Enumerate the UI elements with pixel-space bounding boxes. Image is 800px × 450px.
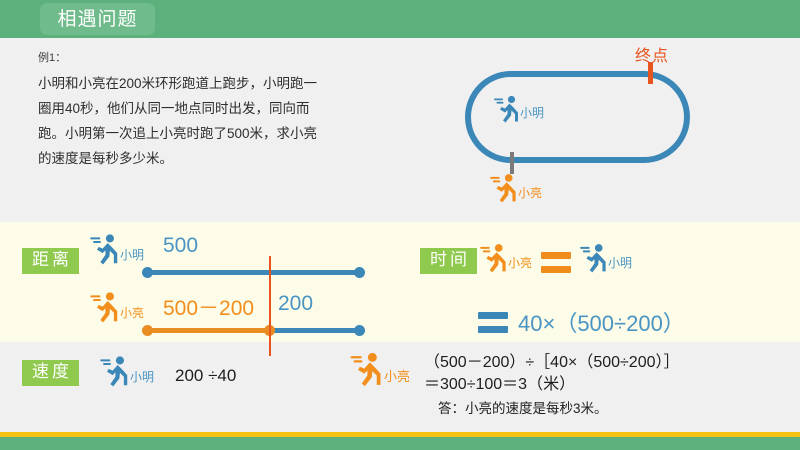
- problem-lead: 例1：: [38, 52, 418, 65]
- distance-segment-liang: [146, 328, 270, 333]
- runner-label: 小亮: [508, 257, 532, 274]
- page-title: 相遇问题: [57, 10, 137, 29]
- distance-runner-liang: 小亮: [88, 288, 144, 324]
- footer-green-bar: [0, 437, 800, 450]
- runner-icon: [348, 348, 388, 388]
- distance-value-200: 200: [278, 292, 313, 316]
- finish-tick-marker: [648, 62, 653, 84]
- problem-line-2: 圈用40秒，他们从同一地点同时出发，同向而: [38, 97, 418, 122]
- runner-label: 小亮: [384, 370, 410, 388]
- distance-value-500-minus-200: 500－200: [163, 292, 254, 322]
- answer-line-2: ＝300÷100＝3（米）: [424, 374, 794, 396]
- equals-sign-orange: [541, 252, 571, 274]
- distance-divider-line: [269, 256, 271, 356]
- segment-endpoint-dot: [142, 267, 153, 278]
- runner-icon: [88, 230, 124, 266]
- runner-icon: [488, 170, 522, 204]
- segment-endpoint-dot: [354, 267, 365, 278]
- section-badge-speed: 速度: [22, 360, 79, 386]
- track-runner-liang: 小亮: [488, 170, 542, 204]
- runner-label: 小明: [120, 249, 144, 266]
- distance-segment-lap: [268, 328, 360, 333]
- time-runner-ming: 小明: [578, 240, 632, 274]
- runner-icon: [98, 352, 134, 388]
- distance-value-500: 500: [163, 234, 198, 258]
- section-badge-time: 时间: [420, 248, 477, 274]
- problem-line-4: 的速度是每秒多少米。: [38, 147, 418, 172]
- runner-icon: [578, 240, 612, 274]
- runner-icon: [478, 240, 512, 274]
- segment-endpoint-dot: [142, 325, 153, 336]
- runner-label: 小亮: [120, 307, 144, 324]
- track-runner-ming: 小明: [492, 92, 544, 124]
- problem-line-1: 小明和小亮在200米环形跑道上跑步，小明跑一: [38, 72, 418, 97]
- title-bar: 相遇问题: [0, 0, 800, 38]
- runner-label: 小亮: [518, 187, 542, 204]
- answer-block: （500－200）÷［40×（500÷200）］ ＝300÷100＝3（米） 答…: [424, 352, 794, 420]
- problem-statement: 例1： 小明和小亮在200米环形跑道上跑步，小明跑一 圈用40秒，他们从同一地点…: [38, 52, 418, 172]
- segment-endpoint-dot: [354, 325, 365, 336]
- time-formula: 40×（500÷200）: [518, 306, 685, 338]
- slide-title-badge: 相遇问题: [40, 3, 155, 35]
- problem-body: 小明和小亮在200米环形跑道上跑步，小明跑一 圈用40秒，他们从同一地点同时出发…: [38, 72, 418, 172]
- speed-expression-ming: 200 ÷40: [175, 366, 236, 386]
- runner-label: 小明: [130, 371, 154, 388]
- distance-segment-ming: [146, 270, 360, 275]
- answer-line-3: 答：小亮的速度是每秒3米。: [424, 398, 794, 420]
- problem-line-3: 跑。小明第一次追上小亮时跑了500米，求小亮: [38, 122, 418, 147]
- distance-runner-ming: 小明: [88, 230, 144, 266]
- track-diagram: 终点 小明: [440, 42, 790, 212]
- runner-label: 小明: [608, 257, 632, 274]
- equals-sign-blue: [478, 312, 508, 334]
- speed-runner-ming: 小明: [98, 352, 154, 388]
- runner-icon: [88, 288, 124, 324]
- runner-label: 小明: [520, 107, 544, 124]
- speed-runner-liang: 小亮: [348, 348, 410, 388]
- time-runner-liang: 小亮: [478, 240, 532, 274]
- answer-line-1: （500－200）÷［40×（500÷200）］: [424, 352, 794, 374]
- section-badge-distance: 距离: [22, 248, 79, 274]
